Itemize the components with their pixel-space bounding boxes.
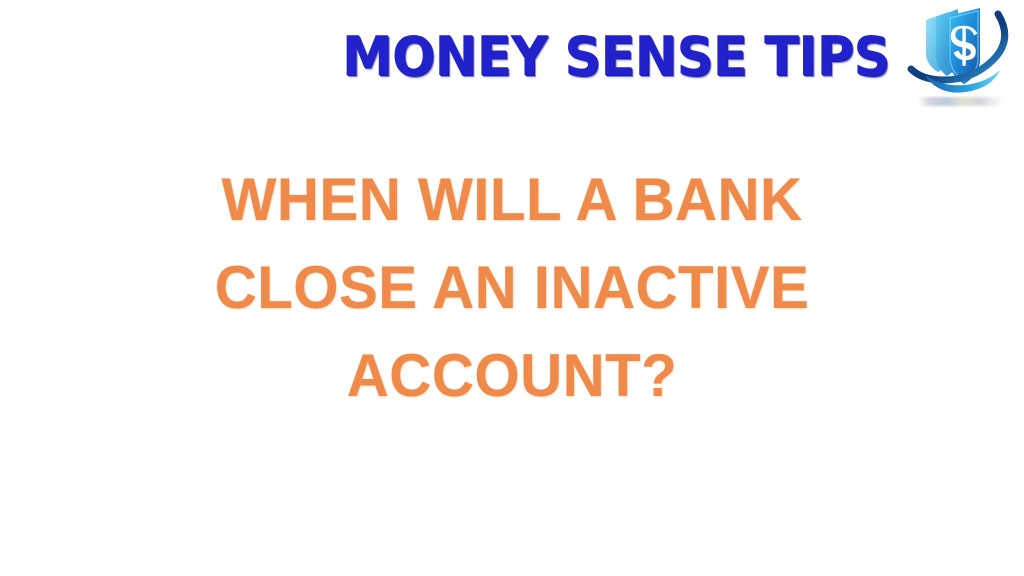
headline-line-2: CLOSE AN INACTIVE xyxy=(15,244,1008,332)
shield-dollar-logo-icon xyxy=(904,4,1016,100)
brand-header: MONEY SENSE TIPS xyxy=(0,0,1024,110)
brand-wordmark: MONEY SENSE TIPS xyxy=(342,30,890,84)
empty-content-area xyxy=(0,430,1024,576)
slide-canvas: MONEY SENSE TIPS xyxy=(0,0,1024,576)
headline-line-1: WHEN WILL A BANK xyxy=(15,156,1008,244)
logo-tagline xyxy=(918,97,1004,106)
brand-logo xyxy=(904,4,1016,108)
headline-line-3: ACCOUNT? xyxy=(15,332,1008,420)
headline-block: WHEN WILL A BANK CLOSE AN INACTIVE ACCOU… xyxy=(0,156,1024,420)
